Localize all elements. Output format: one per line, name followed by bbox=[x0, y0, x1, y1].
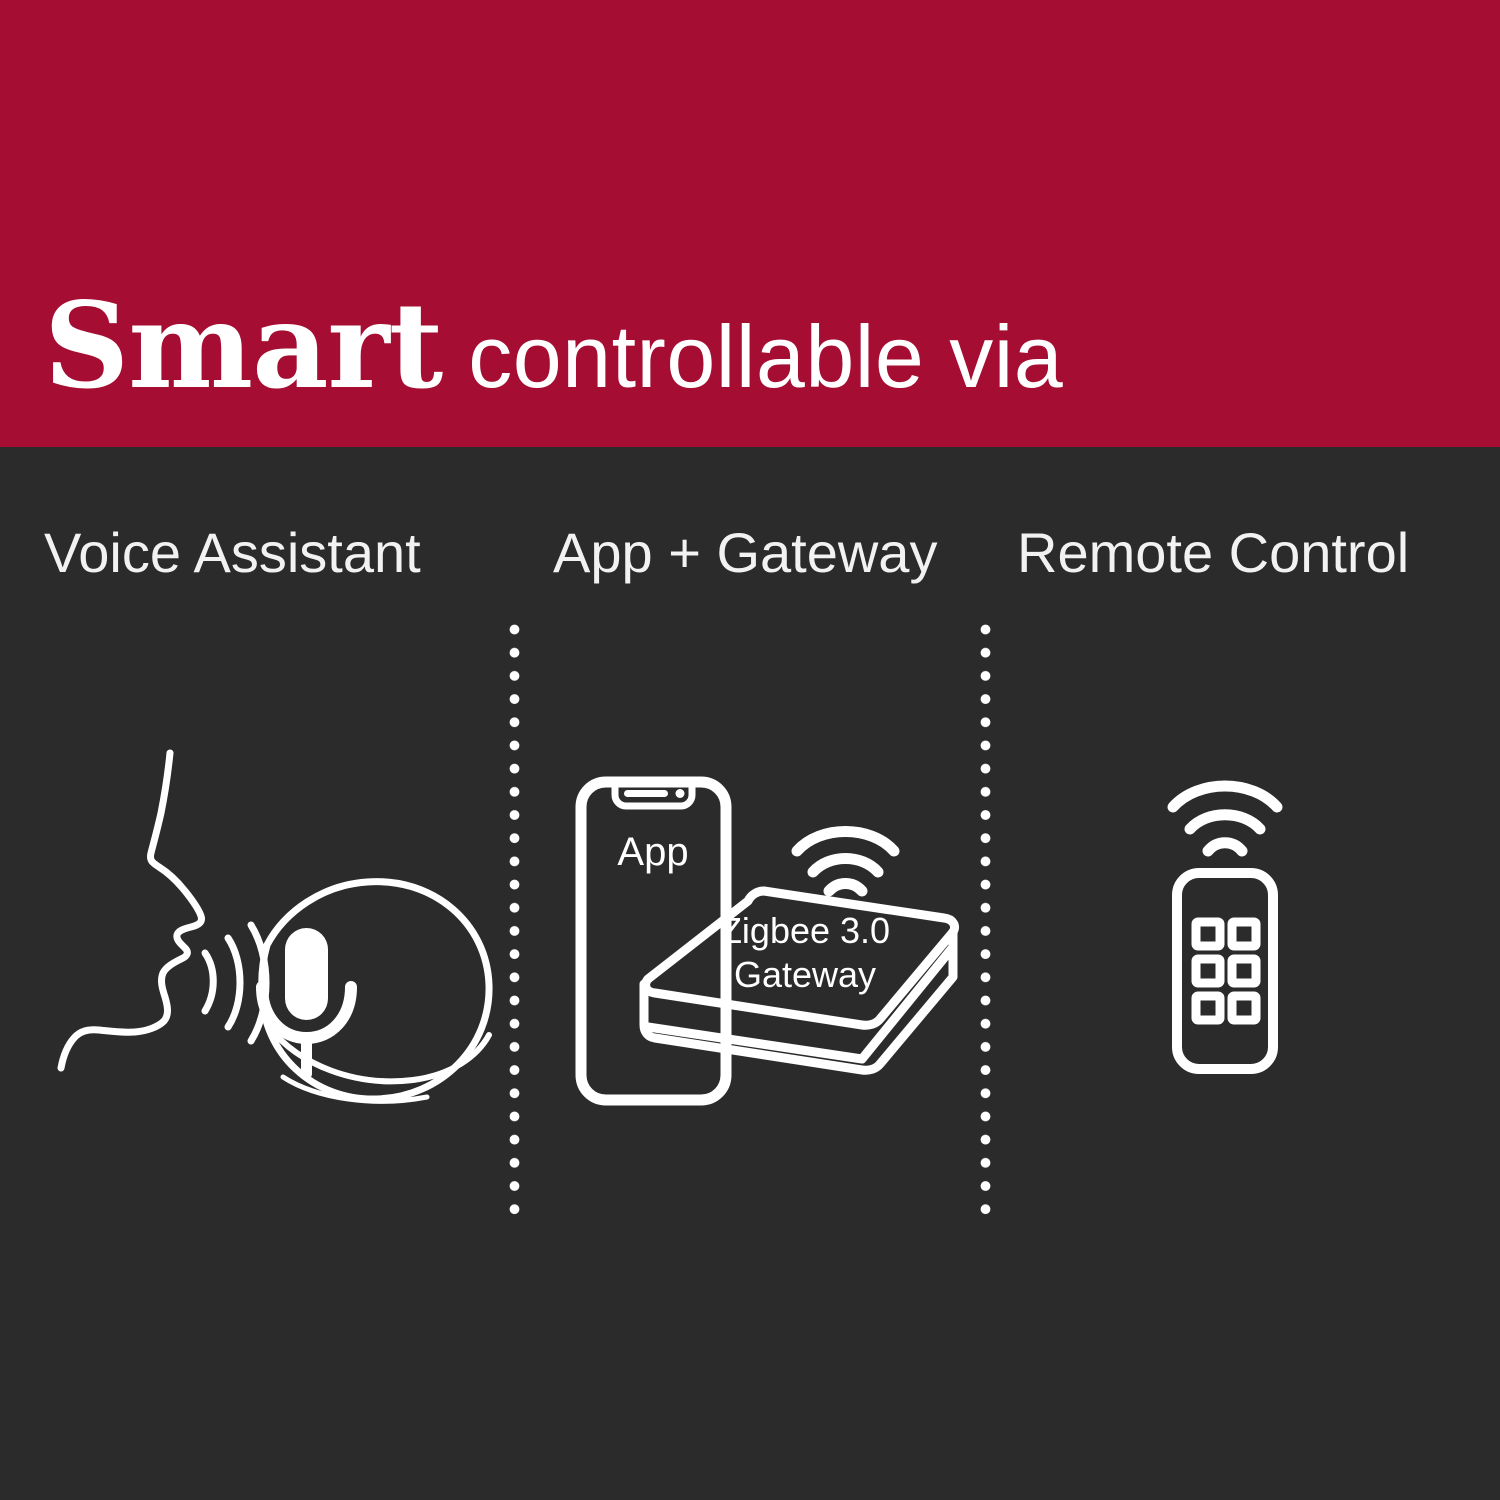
headline: Smartcontrollable via bbox=[44, 287, 1063, 405]
column-title-voice-assistant: Voice Assistant bbox=[44, 525, 421, 581]
app-gateway-illustration: App Zigbee 3.0 Gateway bbox=[555, 755, 995, 1125]
voice-assistant-illustration bbox=[55, 735, 515, 1115]
column-title-app-gateway: App + Gateway bbox=[553, 525, 937, 581]
remote-control-illustration bbox=[1140, 770, 1340, 1110]
headline-strong: Smart bbox=[44, 276, 442, 415]
gateway-label-line1: Zigbee 3.0 bbox=[720, 910, 890, 951]
headline-rest: controllable via bbox=[468, 307, 1063, 406]
poster-root: Smartcontrollable via Voice Assistant Ap… bbox=[0, 0, 1500, 1500]
header-band: Smartcontrollable via bbox=[0, 0, 1500, 447]
column-title-remote-control: Remote Control bbox=[1017, 525, 1409, 581]
gateway-label-line2: Gateway bbox=[734, 954, 876, 995]
phone-app-label: App bbox=[617, 830, 688, 874]
